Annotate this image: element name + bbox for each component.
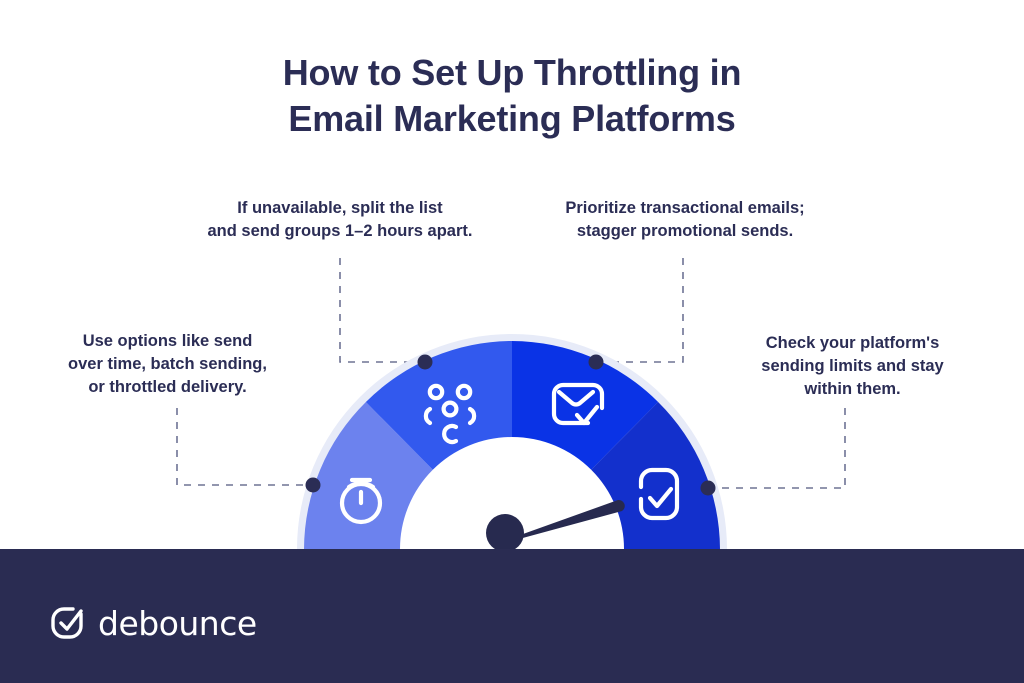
connector-dot-top-right: [589, 355, 604, 370]
infographic-canvas: How to Set Up Throttling in Email Market…: [0, 0, 1024, 683]
connector-right: [708, 408, 845, 488]
connector-top-left: [340, 258, 425, 362]
connector-dot-left: [306, 478, 321, 493]
debounce-logo: debounce: [50, 604, 257, 643]
connector-top-right: [596, 258, 683, 362]
connector-dot-right: [701, 481, 716, 496]
debounce-check-logo-icon: [50, 606, 86, 642]
gauge-needle: [486, 500, 625, 552]
needle-hub: [486, 514, 524, 552]
connector-left: [177, 408, 313, 485]
debounce-wordmark: debounce: [98, 604, 257, 643]
connector-dot-top-left: [418, 355, 433, 370]
